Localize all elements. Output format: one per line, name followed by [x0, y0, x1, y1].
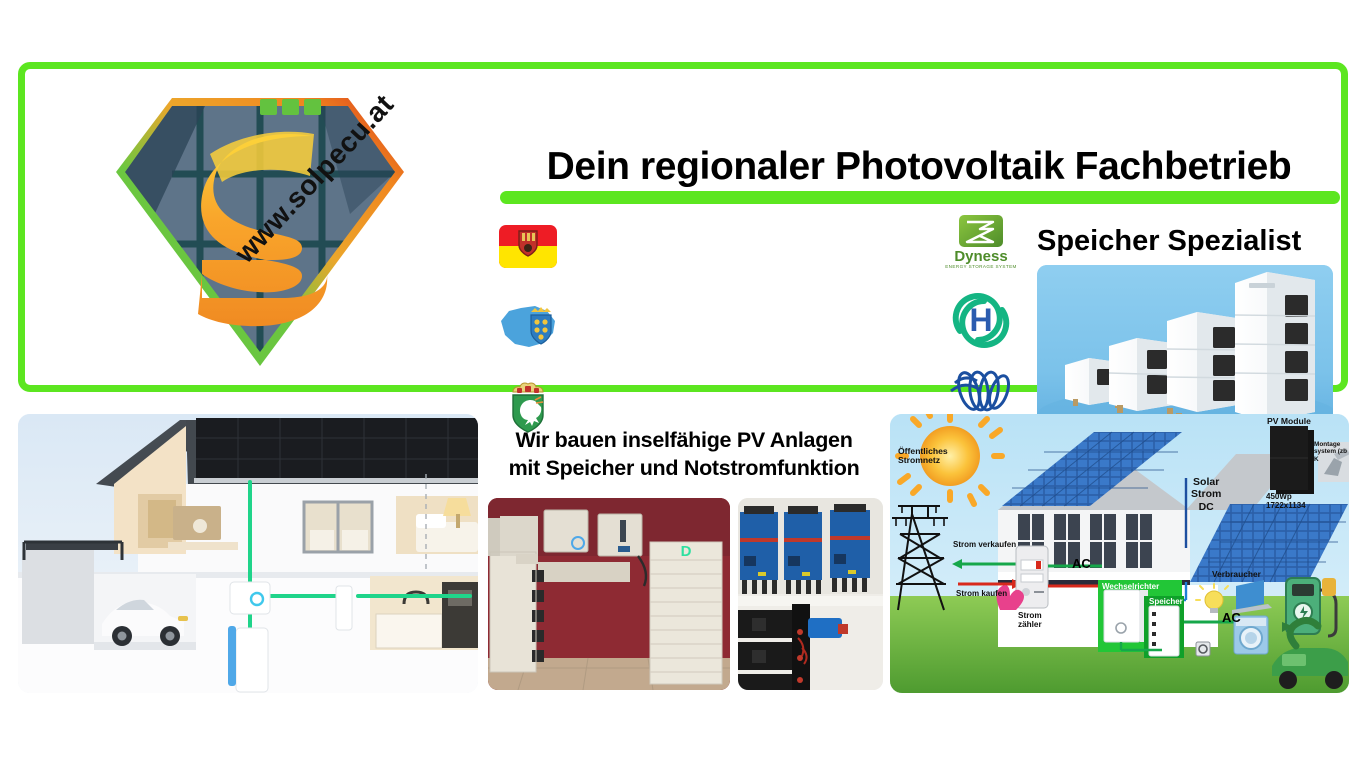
page-title: Dein regionaler Photovoltaik Fachbetrieb: [493, 145, 1345, 189]
label-public-grid: Öffentliches Stromnetz: [898, 447, 948, 465]
inverter-wall-photo: [738, 498, 883, 690]
storage-specialist-title: Speicher Spezialist: [1037, 225, 1337, 257]
infographic-illustration: [890, 414, 1349, 693]
house-cutaway-render: [18, 414, 478, 693]
label-pv-spec: 450Wp 1722x1134: [1266, 492, 1306, 510]
poster-canvas: www.solpecu.at Dein regionaler Photovolt…: [0, 0, 1366, 768]
top-banner: www.solpecu.at Dein regionaler Photovolt…: [18, 62, 1348, 392]
label-ac-left: AC: [1072, 556, 1091, 571]
headline-underline-bar: [500, 191, 1340, 204]
socket-icon: [1196, 642, 1210, 656]
installation-photo-inverters: [738, 498, 883, 690]
label-buy-electricity: Strom kaufen: [956, 590, 1007, 598]
middle-headline-line2: mit Speicher und Notstromfunktion: [485, 454, 883, 482]
company-logo[interactable]: www.solpecu.at: [55, 74, 455, 389]
partner-brand-logos: Dyness ENERGY STORAGE SYSTEM H: [933, 213, 1029, 441]
installation-photo-batteries: D: [488, 498, 730, 690]
label-inverter: Wechselrichter: [1102, 583, 1159, 591]
brand-dyness: Dyness ENERGY STORAGE SYSTEM: [933, 213, 1029, 269]
region-emblems: [495, 219, 565, 434]
label-mounting-system: Montage system (zb K: [1314, 441, 1349, 463]
label-ac-right: AC: [1222, 610, 1241, 625]
label-consumers: Verbraucher: [1212, 570, 1261, 579]
middle-headline: Wir bauen inselfähige PV Anlagen mit Spe…: [485, 426, 883, 482]
pv-system-infographic: Öffentliches Stromnetz Strom verkaufen S…: [890, 414, 1349, 693]
recycle-h-icon: H: [933, 287, 1029, 353]
label-storage: Speicher: [1149, 598, 1183, 606]
label-pv-module: PV Module: [1267, 417, 1311, 426]
emblem-niederoesterreich-icon: [495, 299, 561, 354]
brand-hoppecke: H: [933, 287, 1029, 353]
stack-brand-letter: D: [681, 543, 692, 560]
house-illustration: [18, 414, 478, 693]
dyness-tagline: ENERGY STORAGE SYSTEM: [945, 264, 1017, 269]
battery-product-photo: [1037, 265, 1333, 437]
battery-room-photo: D: [488, 498, 730, 690]
pv-module-sample: [1270, 426, 1314, 494]
label-sell-electricity: Strom verkaufen: [953, 541, 1016, 549]
dyness-wordmark: Dyness: [954, 248, 1007, 265]
middle-headline-line1: Wir bauen inselfähige PV Anlagen: [485, 426, 883, 454]
battery-stacks-illustration: [1037, 265, 1333, 437]
middle-column: Wir bauen inselfähige PV Anlagen mit Spe…: [485, 414, 883, 693]
label-electricity-meter: Strom zähler: [1018, 611, 1042, 630]
dyness-icon: Dyness ENERGY STORAGE SYSTEM: [933, 213, 1029, 269]
emblem-burgenland-icon: [495, 219, 561, 274]
hoppecke-letter: H: [969, 302, 992, 338]
label-solar-dc: Solar Strom DC: [1191, 476, 1221, 513]
